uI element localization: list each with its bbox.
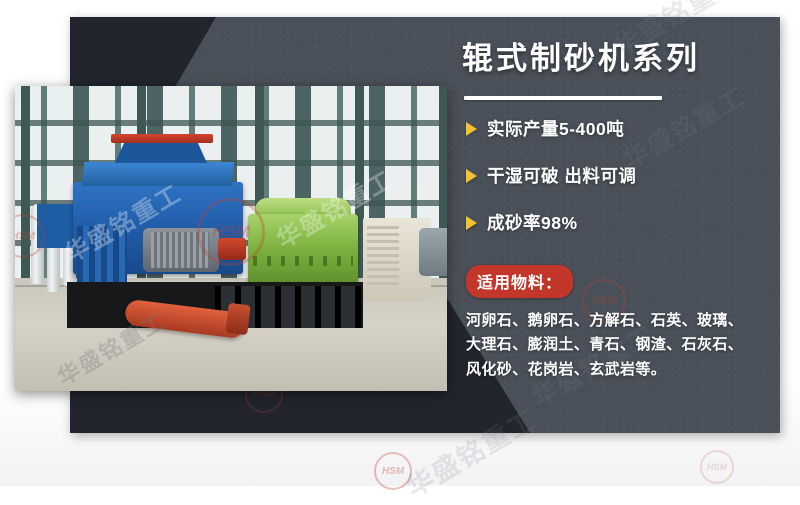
steel-column [21,86,30,287]
shaft-flange [225,303,250,335]
red-coupling [218,238,246,260]
title-underline [464,96,662,100]
materials-badge: 适用物料： [466,265,573,298]
blue-crusher-cowl [82,162,235,186]
feature-label: 干湿可破 出料可调 [487,163,636,188]
feature-label: 实际产量5-400吨 [487,116,624,141]
product-title: 辊式制砂机系列 [462,40,778,77]
arrow-right-icon [466,122,477,136]
arrow-right-icon [466,216,477,230]
cabinet-vents [367,226,399,286]
green-gearbox [248,214,358,286]
materials-list: 河卵石、鹅卵石、方解石、石英、玻璃、大理石、膨润土、青石、钢渣、石灰石、风化砂、… [466,309,754,382]
secondary-motor [419,228,447,276]
watermark-seal: HSM [374,452,412,490]
watermark-seal: HSM [700,450,734,484]
feed-hopper [115,141,207,163]
seal-label: HSM [707,462,727,472]
crusher-ribs [77,226,127,286]
feature-label: 成砂率98% [487,210,578,235]
seal-label: HSM [382,466,404,477]
product-photo: 华盛铭重工 华盛铭重工 华盛铭重工 HSM HSM [15,86,447,391]
feature-row: 成砂率98% [466,210,778,235]
feature-row: 干湿可破 出料可调 [466,163,778,188]
hopper-red-lid [111,134,213,143]
feature-row: 实际产量5-400吨 [466,116,778,141]
arrow-right-icon [466,169,477,183]
motor-cooling-fins [151,232,209,268]
poster-canvas: 华盛铭重工 华盛铭重工 华盛铭重工 HSM HSM [0,0,800,486]
gearbox-bolts [253,256,353,266]
copy-column: 辊式制砂机系列 实际产量5-400吨 干湿可破 出料可调 成砂率98% 适用物料… [462,40,778,382]
blue-auxiliary-unit [37,204,77,248]
